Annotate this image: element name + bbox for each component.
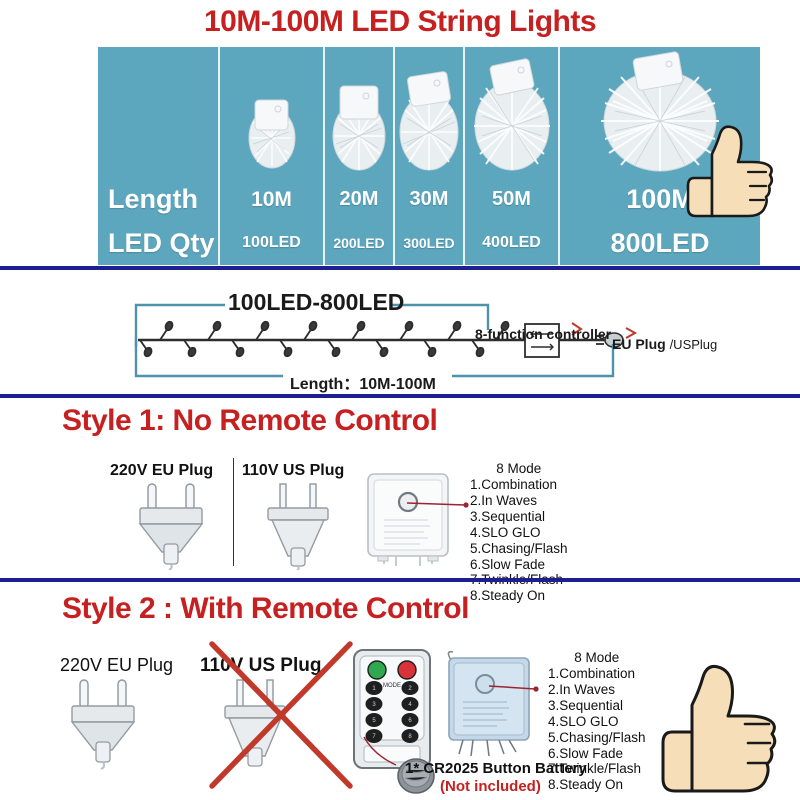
section-divider-1: [0, 266, 800, 270]
style2-title: Style 2 : With Remote Control: [62, 592, 469, 626]
product-photo-10m: [220, 47, 323, 178]
qty-value-30m: 300LED: [395, 222, 463, 266]
battery-label: 1* CR2025 Button Battery: [405, 760, 587, 777]
qty-value-10m: 100LED: [220, 222, 323, 266]
product-photo-20m: [325, 47, 393, 178]
infographic-page: 10M-100M LED String Lights Length LED Qt…: [0, 0, 800, 800]
mode-item-4: 4.SLO GLO: [470, 525, 568, 541]
length-value-10m: 10M: [220, 178, 323, 222]
page-title: 10M-100M LED String Lights: [0, 5, 800, 39]
mode-list-heading: 8 Mode: [470, 461, 568, 477]
mode-item-1: 1.Combination: [470, 477, 568, 493]
light-bundle-icon: [324, 58, 394, 176]
mode-item-1: 1.Combination: [548, 666, 646, 682]
spec-table: Length LED Qty 10M 100LED: [98, 47, 760, 265]
qty-value-50m: 400LED: [465, 222, 558, 266]
mode-item-2: 2.In Waves: [548, 682, 646, 698]
section-divider-2: [0, 394, 800, 398]
qty-value-20m: 200LED: [325, 222, 393, 266]
mode-item-8: 8.Steady On: [470, 588, 568, 604]
style1-eu-plug-label: 220V EU Plug: [110, 462, 213, 480]
diagram-us-plug-text: /USPlug: [670, 337, 718, 352]
qty-value-100m: 800LED: [560, 222, 760, 266]
diagram-length-label: Length：10M-100M: [290, 370, 436, 394]
section-divider-3: [0, 578, 800, 582]
remote-mode-label: MODE: [383, 683, 401, 689]
battery-leader-line: [362, 735, 408, 775]
product-photo-30m: [395, 47, 463, 178]
row-label-length: Length: [98, 178, 218, 222]
mode-item-6: 6.Slow Fade: [470, 557, 568, 573]
product-photo-50m: [465, 47, 558, 178]
mode-item-3: 3.Sequential: [548, 698, 646, 714]
style1-title: Style 1: No Remote Control: [62, 404, 437, 438]
spec-column-10m: 10M 100LED: [220, 47, 325, 265]
mode-list-heading: 8 Mode: [548, 650, 646, 666]
light-bundle-icon: [233, 66, 311, 176]
style1-controller-box: [362, 470, 458, 574]
light-bundle-icon: [466, 46, 558, 176]
style1-plug-separator: [233, 458, 234, 566]
row-label-qty: LED Qty: [98, 222, 218, 266]
spec-column-20m: 20M 200LED: [325, 47, 395, 265]
diagram-plug-label: EU Plug /USPlug: [612, 336, 717, 352]
diagram-led-range-label: 100LED-800LED: [228, 289, 404, 316]
length-value-20m: 20M: [325, 178, 393, 222]
spec-column-50m: 50M 400LED: [465, 47, 560, 265]
style2-mode-arrow: [487, 678, 547, 698]
style2-eu-plug-label: 220V EU Plug: [60, 655, 173, 676]
length-value-50m: 50M: [465, 178, 558, 222]
eu-plug-icon: [130, 482, 212, 570]
length-value-30m: 30M: [395, 178, 463, 222]
mode-item-5: 5.Chasing/Flash: [470, 541, 568, 557]
mode-item-4: 4.SLO GLO: [548, 714, 646, 730]
mode-item-2: 2.In Waves: [470, 493, 568, 509]
style1-mode-list: 8 Mode 1.Combination 2.In Waves 3.Sequen…: [470, 461, 568, 604]
label-column-spacer: [98, 47, 218, 178]
diagram-eu-plug-text: EU Plug: [612, 336, 670, 352]
string-diagram-section: 100LED-800LED 8-function controller EU P…: [0, 272, 800, 394]
cross-out-icon: [168, 640, 368, 790]
mode-item-3: 3.Sequential: [470, 509, 568, 525]
thumbs-up-icon: [648, 650, 793, 798]
light-bundle-icon: [393, 52, 465, 176]
mode-item-8: 8.Steady On: [548, 777, 646, 793]
spec-table-label-column: Length LED Qty: [98, 47, 220, 265]
eu-plug-icon: [62, 678, 144, 770]
style1-us-plug-label: 110V US Plug: [242, 462, 344, 480]
thumbs-up-icon: [676, 118, 786, 223]
mode-item-5: 5.Chasing/Flash: [548, 730, 646, 746]
spec-column-30m: 30M 300LED: [395, 47, 465, 265]
style2-controller-box: [443, 650, 539, 762]
diagram-controller-label: 8-function controller: [475, 326, 611, 342]
style1-mode-arrow: [405, 494, 475, 514]
us-plug-icon: [258, 482, 338, 570]
battery-note: (Not included): [440, 778, 541, 795]
